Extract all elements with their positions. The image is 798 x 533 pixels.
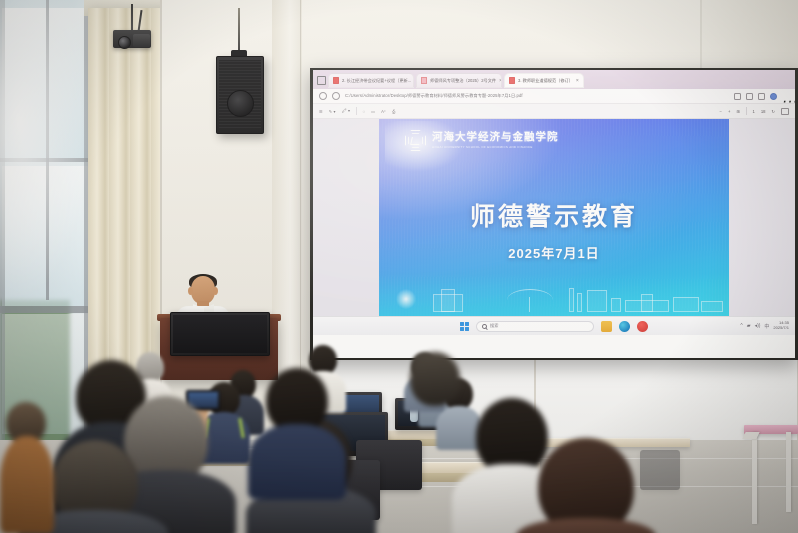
read-aloud-icon[interactable]: A⁺: [381, 109, 386, 114]
zoom-out-button[interactable]: −: [720, 109, 722, 114]
slide-date: 2025年7月1日: [379, 243, 729, 262]
table-leg: [752, 432, 757, 524]
page-current[interactable]: 1: [752, 109, 754, 114]
pdf-toolbar-right[interactable]: − + ⊞ 1 18 ↻: [720, 107, 789, 115]
tab-label: 师德师风专项整治（2025）2号文件: [430, 78, 496, 84]
text-icon[interactable]: ▭: [371, 109, 375, 114]
favorite-icon[interactable]: [746, 93, 753, 100]
more-icon[interactable]: ···: [782, 93, 789, 100]
file-icon: [332, 92, 340, 100]
taskbar-search-input[interactable]: 搜索: [476, 321, 594, 332]
audience-member-foreground: [0, 392, 54, 533]
network-icon[interactable]: ▰: [747, 323, 751, 329]
pdf-page-area[interactable]: 河海大学经济与金融学院 HOHAI UNIVERSITY SCHOOL OF E…: [313, 119, 795, 316]
show-hidden-icons[interactable]: ^: [740, 323, 742, 329]
search-placeholder: 搜索: [490, 323, 498, 329]
page-total: 18: [761, 109, 766, 114]
browser-tab[interactable]: 师德师风专项整治（2025）2号文件 ×: [416, 73, 502, 88]
presenter-head: [191, 276, 215, 304]
pdf-icon: [333, 77, 339, 84]
edge-icon[interactable]: [619, 321, 630, 332]
audience-member-foreground: [396, 352, 474, 452]
projection-screen[interactable]: 2. 长江经济带会议纪要+议程（更新... × 师德师风专项整治（2025）2号…: [313, 70, 795, 358]
search-icon: [482, 324, 487, 329]
tab-label: 3. 教师职业道德规范（修订）: [518, 78, 573, 84]
clock-date: 2025/7/1: [773, 326, 789, 331]
draw-icon[interactable]: ✎ ▾: [329, 109, 336, 114]
fit-page-icon[interactable]: ⊞: [736, 109, 740, 114]
audience-member-foreground: [516, 438, 656, 533]
org-name-cn: 河海大学经济与金融学院: [432, 132, 559, 144]
volume-icon[interactable]: ◂)): [755, 323, 761, 329]
close-icon[interactable]: ×: [499, 78, 502, 84]
presentation-slide: 河海大学经济与金融学院 HOHAI UNIVERSITY SCHOOL OF E…: [379, 119, 729, 316]
profile-icon[interactable]: [770, 93, 777, 100]
podium-laptop-screen: [173, 315, 267, 353]
sidebar-icon[interactable]: ☰: [319, 109, 323, 114]
pdf-app-icon[interactable]: [637, 321, 648, 332]
browser-toolbar-icons[interactable]: ···: [734, 93, 789, 100]
audience-member-foreground: [248, 368, 346, 488]
browser-tab[interactable]: 2. 长江经济带会议纪要+议程（更新... ×: [328, 73, 414, 88]
hohai-crest-icon: [405, 130, 426, 151]
classroom-photo-scene: 2. 长江经济带会议纪要+议程（更新... × 师德师风专项整治（2025）2号…: [0, 0, 798, 533]
address-url[interactable]: C:/Users/Administrator/Desktop/师德警示教育材料/…: [345, 93, 729, 99]
pdf-icon: [509, 77, 515, 84]
browser-tab-bar[interactable]: 2. 长江经济带会议纪要+议程（更新... × 师德师风专项整治（2025）2号…: [313, 70, 795, 89]
system-tray[interactable]: ^ ▰ ◂)) 中 14:35 2025/7/1: [740, 321, 789, 330]
pdf-toolbar[interactable]: ☰ ✎ ▾ 🖍 ▾ ◌ ▭ A⁺ ⎙ − + ⊞ 1 18 ↻: [313, 104, 795, 119]
reload-icon[interactable]: [319, 92, 327, 100]
browser-tab-active[interactable]: 3. 教师职业道德规范（修订） ×: [504, 73, 584, 88]
projector-cable: [131, 4, 133, 32]
collections-icon[interactable]: [758, 93, 765, 100]
file-explorer-icon[interactable]: [601, 321, 612, 332]
window-curtain: [88, 8, 162, 408]
presenter-ear: [213, 287, 218, 295]
org-logo-row: 河海大学经济与金融学院 HOHAI UNIVERSITY SCHOOL OF E…: [405, 130, 559, 151]
zoom-in-button[interactable]: +: [728, 109, 730, 114]
highlight-icon[interactable]: 🖍 ▾: [342, 108, 351, 114]
zoom-icon[interactable]: [734, 93, 741, 100]
table-leg: [786, 432, 791, 512]
presenter-ear: [188, 287, 193, 295]
speaker-cable: [238, 8, 240, 52]
windows-taskbar[interactable]: 搜索 ^ ▰ ◂)) 中 14:35 2025/7/1: [313, 316, 795, 335]
org-name-block: 河海大学经济与金融学院 HOHAI UNIVERSITY SCHOOL OF E…: [432, 132, 559, 149]
translate-icon[interactable]: ⎙: [392, 109, 395, 114]
tab-label: 2. 长江经济带会议纪要+议程（更新...: [342, 78, 411, 84]
speaker-cone-icon: [227, 90, 254, 117]
windows-start-icon[interactable]: [460, 322, 469, 331]
close-icon[interactable]: ×: [576, 78, 579, 84]
rotate-icon[interactable]: ↻: [771, 109, 775, 114]
org-name-en: HOHAI UNIVERSITY SCHOOL OF ECONOMICS AND…: [432, 145, 559, 149]
tab-list-icon[interactable]: [317, 76, 326, 85]
pdf-icon: [421, 77, 427, 84]
save-icon[interactable]: [781, 108, 789, 115]
input-method-icon[interactable]: 中: [764, 323, 769, 330]
campus-skyline-illustration: [379, 274, 729, 316]
slide-title: 师德警示教育: [379, 197, 729, 233]
taskbar-clock[interactable]: 14:35 2025/7/1: [773, 321, 789, 330]
projector-lens-icon: [118, 36, 131, 49]
erase-icon[interactable]: ◌: [363, 109, 366, 114]
projector-head: [133, 34, 150, 47]
browser-address-bar[interactable]: C:/Users/Administrator/Desktop/师德警示教育材料/…: [313, 89, 795, 104]
